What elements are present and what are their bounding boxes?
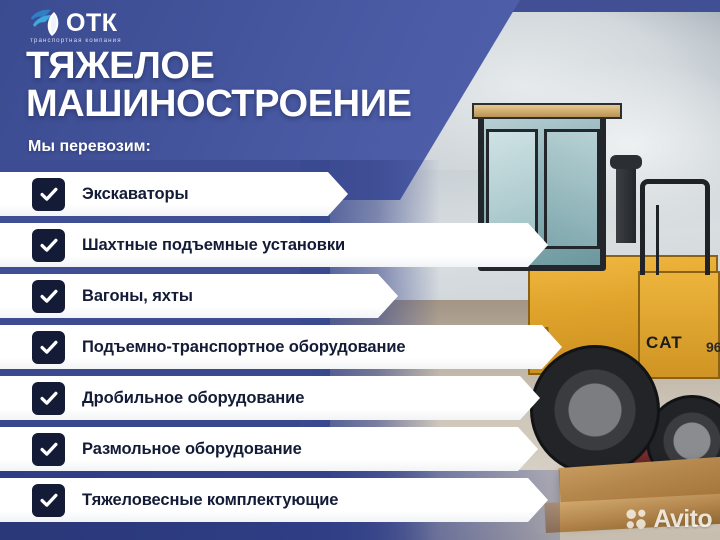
list-item-label: Дробильное оборудование bbox=[82, 389, 304, 408]
list-item[interactable]: Размольное оборудование bbox=[0, 427, 538, 471]
subheading: Мы перевозим: bbox=[28, 138, 151, 156]
avito-dots-icon bbox=[625, 508, 648, 531]
loader-exhaust-cap bbox=[610, 155, 642, 169]
services-list: Экскаваторы Шахтные подъемные установки … bbox=[0, 172, 720, 529]
list-item-label: Подъемно-транспортное оборудование bbox=[82, 338, 406, 357]
list-item[interactable]: Вагоны, яхты bbox=[0, 274, 398, 318]
list-item[interactable]: Дробильное оборудование bbox=[0, 376, 540, 420]
checkmark-icon bbox=[32, 331, 65, 364]
page-title: ТЯЖЕЛОЕ МАШИНОСТРОЕНИЕ bbox=[26, 48, 412, 123]
checkmark-icon bbox=[32, 382, 65, 415]
avito-watermark: Avito bbox=[625, 505, 712, 534]
checkmark-icon bbox=[32, 178, 65, 211]
brand-name: ОТК bbox=[66, 9, 117, 38]
list-item[interactable]: Подъемно-транспортное оборудование bbox=[0, 325, 562, 369]
list-item-label: Экскаваторы bbox=[82, 185, 189, 204]
checkmark-icon bbox=[32, 484, 65, 517]
brand-logo[interactable]: ОТК транспортная компания bbox=[30, 8, 160, 44]
list-item-label: Тяжеловесные комплектующие bbox=[82, 491, 338, 510]
list-item[interactable]: Тяжеловесные комплектующие bbox=[0, 478, 548, 522]
list-item-label: Шахтные подъемные установки bbox=[82, 236, 345, 255]
avito-wordmark: Avito bbox=[653, 505, 712, 534]
list-item[interactable]: Экскаваторы bbox=[0, 172, 348, 216]
promo-banner: CAT 966 ОТК транспортная компания ТЯЖЕЛО… bbox=[0, 0, 720, 540]
list-item-label: Размольное оборудование bbox=[82, 440, 302, 459]
brand-tagline: транспортная компания bbox=[30, 37, 122, 44]
loader-cab-roof bbox=[472, 103, 622, 119]
list-item[interactable]: Шахтные подъемные установки bbox=[0, 223, 548, 267]
checkmark-icon bbox=[32, 280, 65, 313]
checkmark-icon bbox=[32, 433, 65, 466]
otk-leaf-logo-icon bbox=[30, 9, 64, 39]
checkmark-icon bbox=[32, 229, 65, 262]
list-item-label: Вагоны, яхты bbox=[82, 287, 193, 306]
